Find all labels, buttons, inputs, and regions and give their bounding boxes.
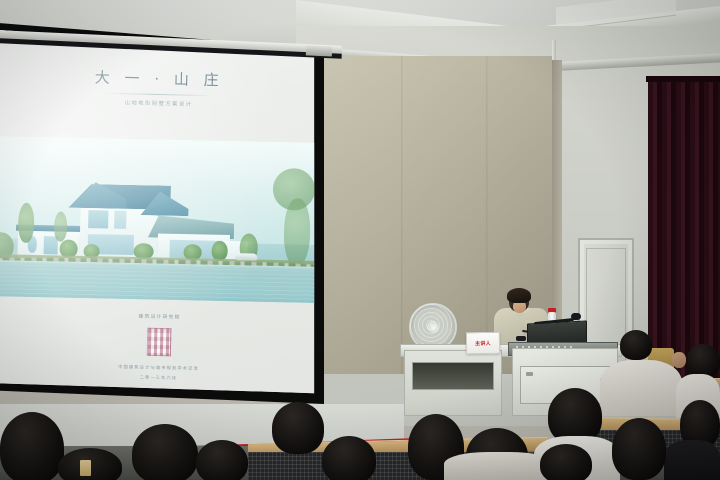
student-shoulders-8 <box>444 452 554 480</box>
student-head-2 <box>196 440 248 480</box>
drawer-knob-icon[interactable] <box>526 372 533 376</box>
slide-subtitle: 山地地形别墅方案设计 <box>0 96 324 110</box>
student-shoulders-right <box>600 360 682 416</box>
student-head-right-back <box>620 330 652 360</box>
placard-text: 主讲人 <box>475 339 491 346</box>
student-head-3 <box>0 412 64 480</box>
slide-title: 大 一 · 山 庄 <box>0 64 324 92</box>
rendering-car <box>235 253 257 260</box>
lecture-hall-scene: 大 一 · 山 庄 山地地形别墅方案设计 <box>0 0 720 480</box>
presenter-hair <box>507 288 531 303</box>
projection-screen: 大 一 · 山 庄 山地地形别墅方案设计 <box>0 18 342 418</box>
microphone-base <box>516 336 526 341</box>
microphone-head-icon <box>571 313 581 320</box>
curtain-rail <box>646 76 720 82</box>
podium-shelf-opening <box>412 362 494 390</box>
slide-header: 大 一 · 山 庄 山地地形别墅方案设计 <box>0 64 324 110</box>
slide-footer: 建筑设计研究院 中国建筑设计与城市规划学术交流 二零一三年六月 <box>0 311 324 385</box>
slide-title-rule <box>105 93 213 96</box>
student-head-center-right <box>612 418 666 480</box>
student-head-1 <box>132 424 198 480</box>
paper-cup <box>80 460 91 476</box>
architectural-rendering <box>0 136 324 303</box>
student-head-9 <box>540 444 592 480</box>
student-hand-right <box>672 352 686 368</box>
slide-organization: 建筑设计研究院 <box>0 311 324 324</box>
fan-grill <box>409 303 453 347</box>
slide-footer-line-2: 二零一三年六月 <box>0 372 323 385</box>
student-head-6 <box>322 436 376 480</box>
screen-mount-bracket <box>306 45 332 56</box>
screen-surface: 大 一 · 山 庄 山地地形别墅方案设计 <box>0 18 324 404</box>
red-seal-stamp <box>147 328 172 356</box>
student-head-5 <box>272 402 324 454</box>
presentation-slide: 大 一 · 山 庄 山地地形别墅方案设计 <box>0 18 324 404</box>
student-head-far-right <box>686 344 720 378</box>
student-shoulders-right-front <box>664 440 720 480</box>
name-placard: 主讲人 <box>466 332 500 355</box>
